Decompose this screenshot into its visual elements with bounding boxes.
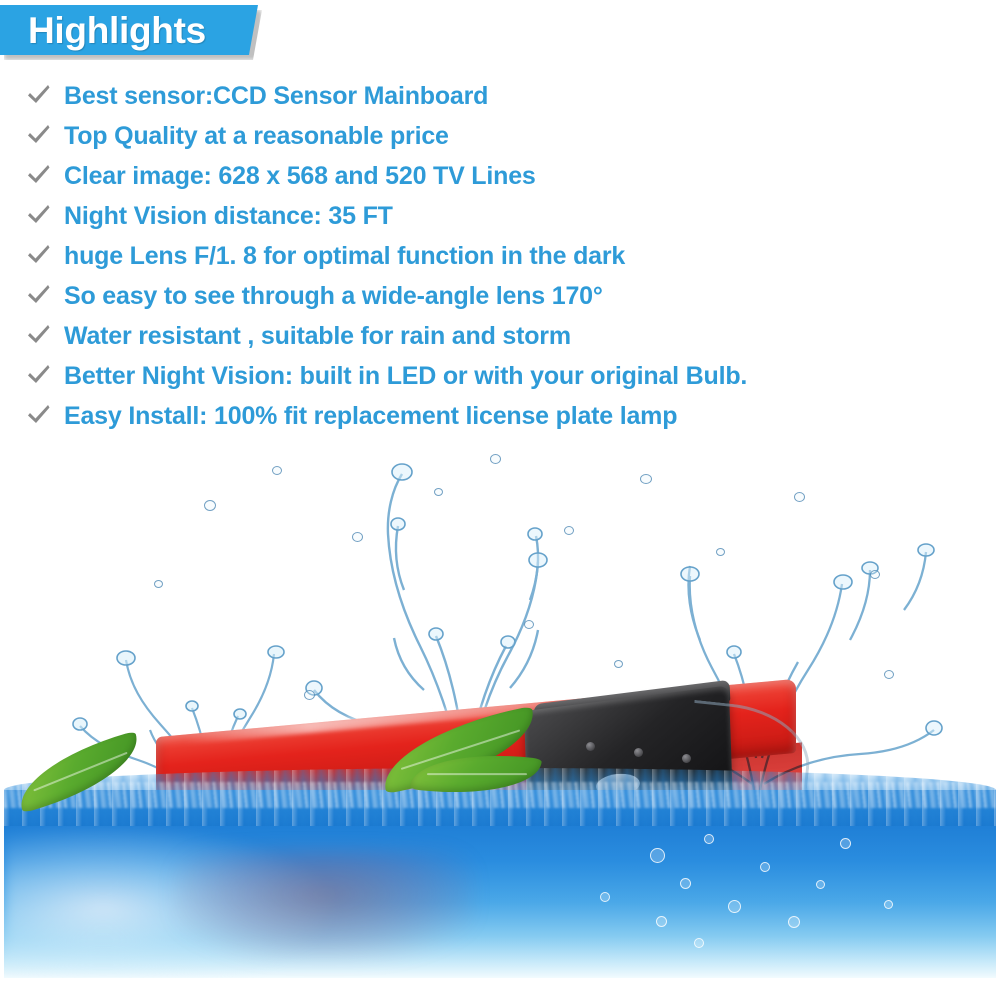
bottom-white-margin: [0, 978, 1000, 985]
list-item: Clear image: 628 x 568 and 520 TV Lines: [24, 156, 974, 196]
list-item: So easy to see through a wide-angle lens…: [24, 276, 974, 316]
highlights-list: Best sensor:CCD Sensor Mainboard Top Qua…: [24, 76, 974, 476]
water-droplet: [352, 532, 363, 542]
water-droplet: [564, 526, 574, 535]
water-droplet: [204, 500, 216, 511]
bubble: [788, 916, 800, 928]
list-item: huge Lens F/1. 8 for optimal function in…: [24, 236, 974, 276]
water-droplet: [640, 474, 652, 484]
check-icon: [26, 82, 52, 108]
list-item-label: So easy to see through a wide-angle lens…: [64, 276, 974, 316]
check-icon: [26, 122, 52, 148]
water-droplet: [524, 620, 534, 629]
list-item: Top Quality at a reasonable price: [24, 116, 974, 156]
check-icon: [26, 402, 52, 428]
bubble: [704, 834, 714, 844]
bubble: [728, 900, 741, 913]
check-icon: [26, 282, 52, 308]
water-droplet: [794, 492, 805, 502]
leaf-vein: [427, 773, 527, 775]
water-droplet: [884, 670, 894, 679]
list-item-label: Better Night Vision: built in LED or wit…: [64, 356, 974, 396]
bubble: [760, 862, 770, 872]
bubble: [884, 900, 893, 909]
list-item-label: Water resistant , suitable for rain and …: [64, 316, 974, 356]
list-item-label: Clear image: 628 x 568 and 520 TV Lines: [64, 156, 974, 196]
bubble: [650, 848, 665, 863]
check-icon: [26, 322, 52, 348]
list-item-label: Top Quality at a reasonable price: [64, 116, 974, 156]
product-photo: [0, 430, 1000, 985]
water-droplet: [490, 454, 501, 464]
bubble: [694, 938, 704, 948]
list-item: Best sensor:CCD Sensor Mainboard: [24, 76, 974, 116]
highlights-page: Highlights Best sensor:CCD Sensor Mainbo…: [0, 0, 1000, 985]
water-droplet: [154, 580, 163, 588]
water-droplet: [272, 466, 282, 475]
camera-screw: [586, 742, 595, 751]
water-droplet: [716, 548, 725, 556]
list-item: Water resistant , suitable for rain and …: [24, 316, 974, 356]
bubble: [840, 838, 851, 849]
water-droplet: [614, 660, 623, 668]
check-icon: [26, 242, 52, 268]
highlights-banner: Highlights: [0, 5, 258, 55]
list-item-label: Best sensor:CCD Sensor Mainboard: [64, 76, 974, 116]
list-item-label: huge Lens F/1. 8 for optimal function in…: [64, 236, 974, 276]
banner-title: Highlights: [28, 8, 206, 54]
check-icon: [26, 162, 52, 188]
lamp-bar-reflection: [174, 850, 474, 960]
product-photo-inner: [4, 430, 996, 978]
water-droplet: [434, 488, 443, 496]
bubble: [656, 916, 667, 927]
bubble: [680, 878, 691, 889]
check-icon: [26, 202, 52, 228]
bubble: [600, 892, 610, 902]
list-item-label: Night Vision distance: 35 FT: [64, 196, 974, 236]
water-droplet: [870, 570, 880, 579]
list-item: Better Night Vision: built in LED or wit…: [24, 356, 974, 396]
camera-screw: [634, 748, 643, 757]
bubble: [816, 880, 825, 889]
list-item: Night Vision distance: 35 FT: [24, 196, 974, 236]
check-icon: [26, 362, 52, 388]
